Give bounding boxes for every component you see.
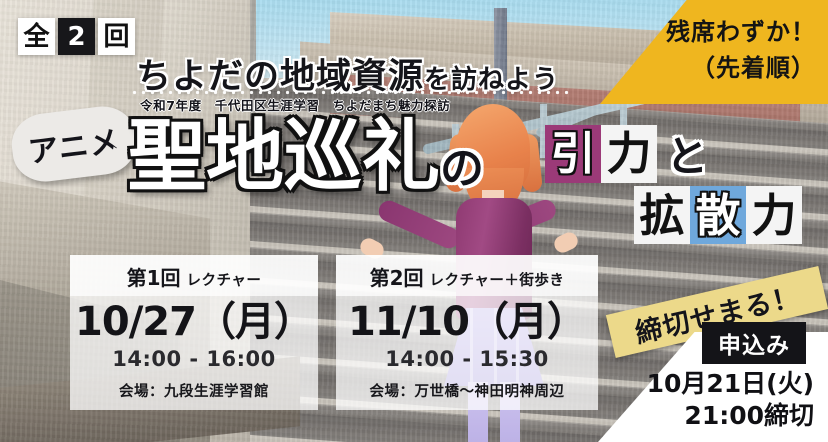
headline-particle: の xyxy=(440,143,484,194)
application-tag: 申込み xyxy=(702,322,806,364)
session-1-place: 会場：九段生涯学習館 xyxy=(74,380,314,401)
power-row-diffusion: 拡 散 力 xyxy=(634,186,802,244)
session-1-kind: レクチャー xyxy=(186,273,261,289)
session-1-time: 14:00 - 16:00 xyxy=(74,347,314,371)
kanji-ryoku-1: 力 xyxy=(601,125,657,183)
session-1-date: 10/27（月） xyxy=(74,299,314,345)
session-card-2: 第2回 レクチャー＋街歩き 11/10（月） 14:00 - 15:30 会場：… xyxy=(336,255,598,410)
application-deadline-time: 21:00締切 xyxy=(684,396,814,432)
session-count-badge: 全 2 回 xyxy=(18,18,135,55)
application-deadline-date: 10月21日(火) xyxy=(647,364,814,400)
kanji-in: 引 xyxy=(545,125,601,183)
session-2-kind: レクチャー＋街歩き xyxy=(429,273,564,289)
kanji-kaku: 拡 xyxy=(634,186,690,244)
headline: 聖地巡礼の xyxy=(128,118,484,196)
session-2-body: 11/10（月） 14:00 - 15:30 会場：万世橋～神田明神周辺 xyxy=(336,296,598,410)
power-conjunction: と xyxy=(666,123,708,184)
badge-char-number: 2 xyxy=(58,18,95,55)
event-poster: 全 2 回 残席わずか！ （先着順） ちよだの地域資源を訪ねよう 令和7年度 千… xyxy=(0,0,828,442)
seats-remaining-line2: （先着順） xyxy=(691,48,816,83)
session-2-number: 第2回 xyxy=(370,266,424,290)
badge-char-zen: 全 xyxy=(18,18,55,55)
session-1-body: 10/27（月） 14:00 - 16:00 会場：九段生涯学習館 xyxy=(70,296,318,410)
overlay-layer: 全 2 回 残席わずか！ （先着順） ちよだの地域資源を訪ねよう 令和7年度 千… xyxy=(0,0,828,442)
session-1-number: 第1回 xyxy=(127,266,181,290)
session-2-date: 11/10（月） xyxy=(340,299,594,345)
session-2-time: 14:00 - 15:30 xyxy=(340,347,594,371)
kanji-san: 散 xyxy=(690,186,746,244)
session-2-header: 第2回 レクチャー＋街歩き xyxy=(336,255,598,296)
power-row-attraction: 引 力 と xyxy=(545,123,708,184)
anime-speech-bubble: アニメ xyxy=(8,103,139,186)
session-card-1: 第1回 レクチャー 10/27（月） 14:00 - 16:00 会場：九段生涯… xyxy=(70,255,318,410)
seats-remaining-banner: 残席わずか！ （先着順） xyxy=(600,0,828,104)
session-1-header: 第1回 レクチャー xyxy=(70,255,318,296)
anime-bubble-label: アニメ xyxy=(8,103,139,186)
kanji-ryoku-2: 力 xyxy=(746,186,802,244)
seats-remaining-line1: 残席わずか！ xyxy=(666,12,816,47)
badge-char-kai: 回 xyxy=(98,18,135,55)
headline-big: 聖地巡礼 xyxy=(128,112,440,202)
session-2-place: 会場：万世橋～神田明神周辺 xyxy=(340,380,594,401)
